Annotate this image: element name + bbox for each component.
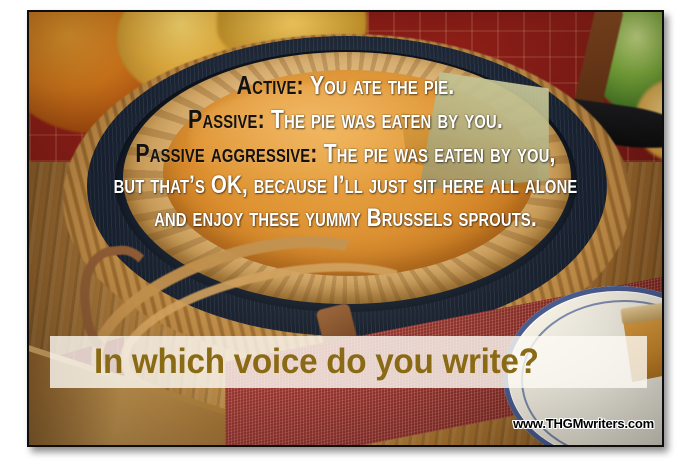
- pie-missing-slice: [419, 72, 549, 190]
- pumpkin-pie-photograph: Active: You ate the pie. Passive: The pi…: [29, 12, 662, 445]
- photo-frame: Active: You ate the pie. Passive: The pi…: [27, 10, 664, 447]
- image-mat: Active: You ate the pie. Passive: The pi…: [0, 0, 690, 466]
- question-banner: In which voice do you write?: [50, 336, 647, 388]
- question-banner-text: In which voice do you write?: [94, 342, 539, 382]
- watermark-url: www.THGMwriters.com: [513, 416, 654, 431]
